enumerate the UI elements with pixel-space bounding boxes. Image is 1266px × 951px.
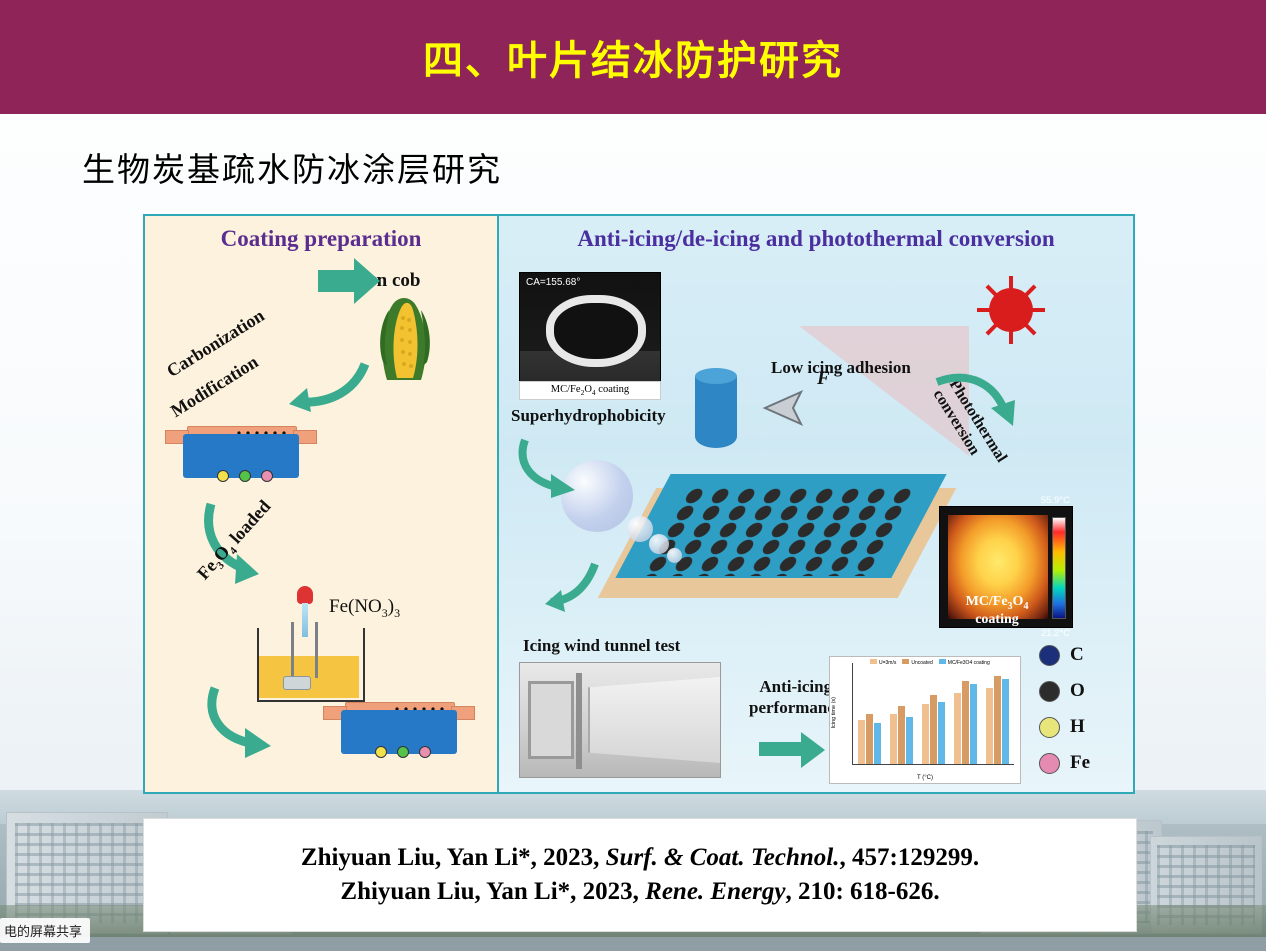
superhydrophobicity-label: Superhydrophobicity xyxy=(511,406,666,426)
chart-bars xyxy=(853,663,1014,764)
chart-bar xyxy=(858,720,865,764)
chart-bar xyxy=(874,723,881,764)
element-label: C xyxy=(1070,644,1084,666)
wind-tunnel-frame xyxy=(528,681,574,759)
chart-bar xyxy=(954,693,961,764)
chart-bar xyxy=(938,702,945,764)
cylinder-body xyxy=(695,376,737,448)
thermal-max-temperature: 55.9°C xyxy=(1041,495,1070,506)
chart-bar xyxy=(866,714,873,765)
chart-bar xyxy=(962,681,969,764)
element-label: H xyxy=(1070,716,1085,738)
dropper-tip xyxy=(302,603,308,637)
icing-wind-tunnel-label: Icing wind tunnel test xyxy=(523,636,680,656)
chart-bar-group xyxy=(986,663,1009,764)
dropper-icon xyxy=(297,586,313,638)
chart-bar-group xyxy=(954,663,977,764)
chart-bar-group xyxy=(858,663,881,764)
element-dot-fe xyxy=(1039,753,1060,774)
tube-furnace-bottom xyxy=(323,702,475,762)
cylinder-top xyxy=(695,368,737,384)
chart-plot-area xyxy=(852,663,1014,765)
legend-row: Fe xyxy=(1039,752,1090,774)
element-dot-h xyxy=(1039,717,1060,738)
chart-bar xyxy=(970,684,977,764)
led-green xyxy=(397,746,409,758)
element-legend: C O H Fe xyxy=(1039,644,1090,774)
water-minidrop xyxy=(667,548,682,563)
led-yellow xyxy=(217,470,229,482)
stir-rod-2 xyxy=(315,622,318,678)
curved-arrow-icon xyxy=(201,684,281,762)
wind-tunnel-photo xyxy=(519,662,721,778)
anti-icing-panel: Anti-icing/de-icing and photothermal con… xyxy=(499,216,1133,792)
chart-bar-group xyxy=(890,663,913,764)
right-arrow-icon xyxy=(757,728,827,772)
icing-time-bar-chart: U=3m/s Uncoated MC/Fe3O4 coating Icing t… xyxy=(829,656,1021,784)
water-droplet-shape xyxy=(546,295,646,367)
substrate-nanoparticles xyxy=(644,488,921,576)
magnetic-stirrer xyxy=(283,676,311,690)
slide-header-bar: 四、叶片结冰防护研究 xyxy=(0,0,1266,114)
element-label: Fe xyxy=(1070,752,1090,774)
research-figure: Coating preparation Corn cob Carbonizati… xyxy=(143,214,1135,794)
led-pink xyxy=(419,746,431,758)
chart-bar xyxy=(994,676,1001,764)
legend-row: O xyxy=(1039,680,1090,702)
contact-angle-caption: MC/Fe2O4 coating xyxy=(519,381,661,400)
curved-arrow-icon xyxy=(515,432,585,502)
wind-tunnel-duct xyxy=(588,677,720,763)
furnace-body xyxy=(341,710,457,754)
chart-x-axis-label: T (°C) xyxy=(830,775,1020,781)
contact-angle-photo: CA=155.68° xyxy=(519,272,661,382)
screen-share-indicator: 电的屏幕共享 xyxy=(0,918,90,943)
infrared-caption: MC/Fe3O4coating xyxy=(939,594,1055,628)
chart-bar xyxy=(906,717,913,764)
water-minidrop xyxy=(649,534,669,554)
element-label: O xyxy=(1070,680,1085,702)
thermal-min-temperature: 21.2°C xyxy=(1041,628,1070,639)
ice-cylinder xyxy=(695,368,737,448)
element-dot-o xyxy=(1039,681,1060,702)
chart-bar xyxy=(922,704,929,764)
dropper-bulb xyxy=(297,586,313,604)
tube-furnace-top xyxy=(165,426,317,486)
reagent-label: Fe(NO3)3 xyxy=(329,596,400,621)
coated-substrate-illustration xyxy=(627,428,927,618)
chart-bar xyxy=(1002,679,1009,764)
anti-icing-title: Anti-icing/de-icing and photothermal con… xyxy=(499,226,1133,252)
page-title: 四、叶片结冰防护研究 xyxy=(423,28,843,86)
sun-icon xyxy=(975,274,1047,346)
furnace-indicator-lights xyxy=(217,470,273,482)
panel-transition-arrow-icon xyxy=(318,258,380,304)
curved-arrow-icon xyxy=(285,356,375,416)
chart-bar xyxy=(898,706,905,764)
legend-row: H xyxy=(1039,716,1090,738)
furnace-body xyxy=(183,434,299,478)
chart-y-axis-label: Icing time (s) xyxy=(831,697,837,728)
led-yellow xyxy=(375,746,387,758)
chart-bar-group xyxy=(922,663,945,764)
citation-line-1: Zhiyuan Liu, Yan Li*, 2023, Surf. & Coat… xyxy=(301,844,979,872)
element-dot-c xyxy=(1039,645,1060,666)
curved-arrow-icon xyxy=(543,556,605,618)
chart-bar xyxy=(986,688,993,764)
coating-preparation-title: Coating preparation xyxy=(145,226,497,252)
wind-tunnel-pole xyxy=(576,673,582,769)
low-icing-adhesion-label: Low icing adhesion xyxy=(771,358,911,378)
led-green xyxy=(239,470,251,482)
contact-angle-value: CA=155.68° xyxy=(526,277,580,288)
stir-rod xyxy=(291,622,294,678)
chart-bar xyxy=(930,695,937,764)
led-pink xyxy=(261,470,273,482)
shear-force-arrow-icon xyxy=(735,386,805,430)
slide: 四、叶片结冰防护研究 生物炭基疏水防冰涂层研究 Coating preparat… xyxy=(0,0,1266,951)
furnace-indicator-lights xyxy=(375,746,431,758)
legend-row: C xyxy=(1039,644,1090,666)
curved-arrow-icon xyxy=(929,366,1019,446)
force-label: F xyxy=(817,368,830,390)
citation-block: Zhiyuan Liu, Yan Li*, 2023, Surf. & Coat… xyxy=(143,818,1137,932)
chart-bar xyxy=(890,714,897,765)
section-subtitle: 生物炭基疏水防冰涂层研究 xyxy=(82,143,502,191)
water-minidrop xyxy=(627,516,653,542)
photo-ground xyxy=(0,937,1266,951)
corn-cob-icon xyxy=(377,292,433,384)
citation-line-2: Zhiyuan Liu, Yan Li*, 2023, Rene. Energy… xyxy=(340,878,939,906)
